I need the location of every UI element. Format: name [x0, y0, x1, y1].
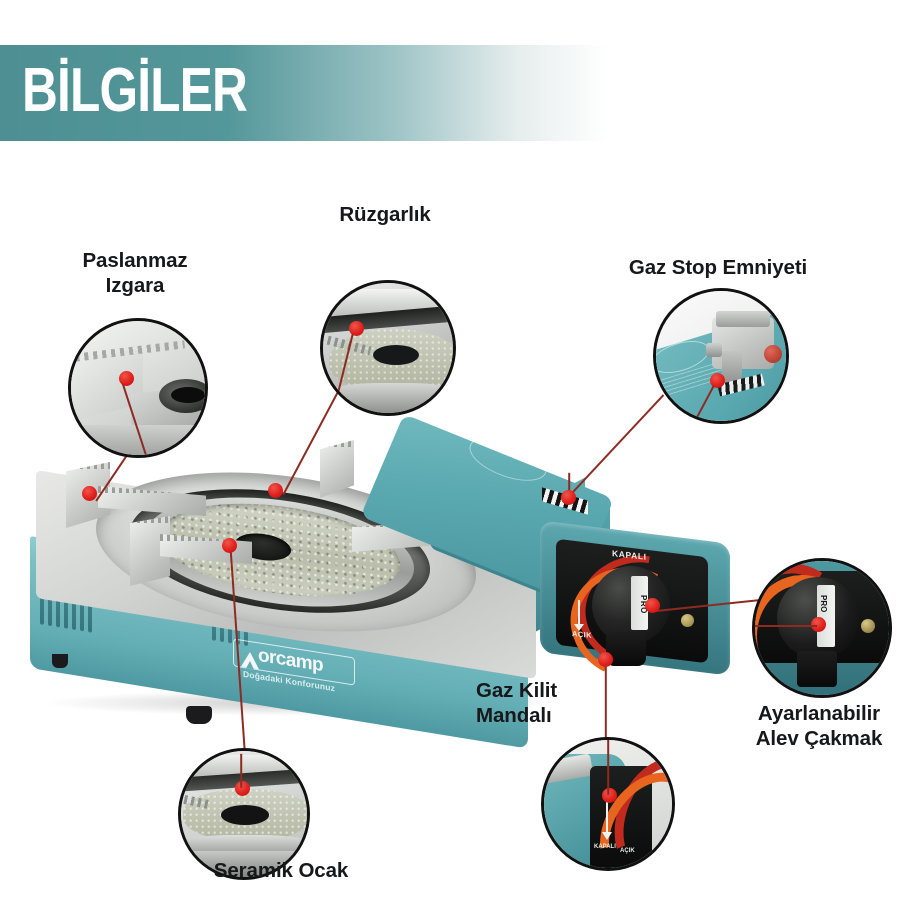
callout-label-gaz-stop-emniyeti: Gaz Stop Emniyeti: [608, 255, 828, 280]
callout-label-seramik-ocak: Seramik Ocak: [181, 858, 381, 883]
callout-label-ruzgarlik: Rüzgarlık: [305, 202, 465, 227]
gas-lock-arrow-shaft: [578, 600, 580, 626]
lens-leader-ayarlanabilir-alev-cakmak: [755, 625, 817, 627]
target-dot-seramik-ocak: [222, 538, 237, 553]
callout-label-ayarlanabilir-alev-cakmak: Ayarlanabilir Alev Çakmak: [735, 701, 900, 751]
lens-dot-seramik-ocak: [235, 781, 250, 796]
target-dot-ayarlanabilir-alev-cakmak: [645, 598, 660, 613]
lens-paslanmaz-izgara: [68, 318, 208, 458]
lens-ruzgarlik: [320, 280, 456, 416]
callout-label-gaz-kilit-mandali: Gaz Kilit Mandalı: [476, 678, 666, 728]
callout-label-paslanmaz-izgara: Paslanmaz Izgara: [55, 248, 215, 298]
lens-dot-gaz-kilit-mandali: [602, 788, 617, 803]
infographic-page: BİLGİLER: [0, 0, 900, 900]
lens-leader-gaz-kilit-mandali: [607, 739, 609, 795]
lens-ayarlanabilir-alev-cakmak: PRO: [752, 558, 892, 698]
target-dot-gaz-stop-emniyeti: [561, 490, 576, 505]
target-dot-paslanmaz-izgara: [82, 486, 97, 501]
knob-screw: [681, 614, 694, 627]
stove-foot-left: [52, 654, 68, 668]
tent-logo-icon-cutout: [246, 660, 254, 669]
stove-foot-center: [186, 706, 212, 724]
canister-cover-print-top: [456, 407, 552, 442]
lens-gaz-kilit-mandali: KAPALI AÇIK: [541, 737, 675, 871]
target-dot-ruzgarlik: [268, 483, 283, 498]
target-dot-gaz-kilit-mandali: [598, 652, 613, 667]
lens-gaz-stop-emniyeti: [653, 288, 789, 424]
lens-leader-seramik-ocak: [240, 754, 242, 788]
gas-lock-arrow-head: [574, 624, 584, 631]
